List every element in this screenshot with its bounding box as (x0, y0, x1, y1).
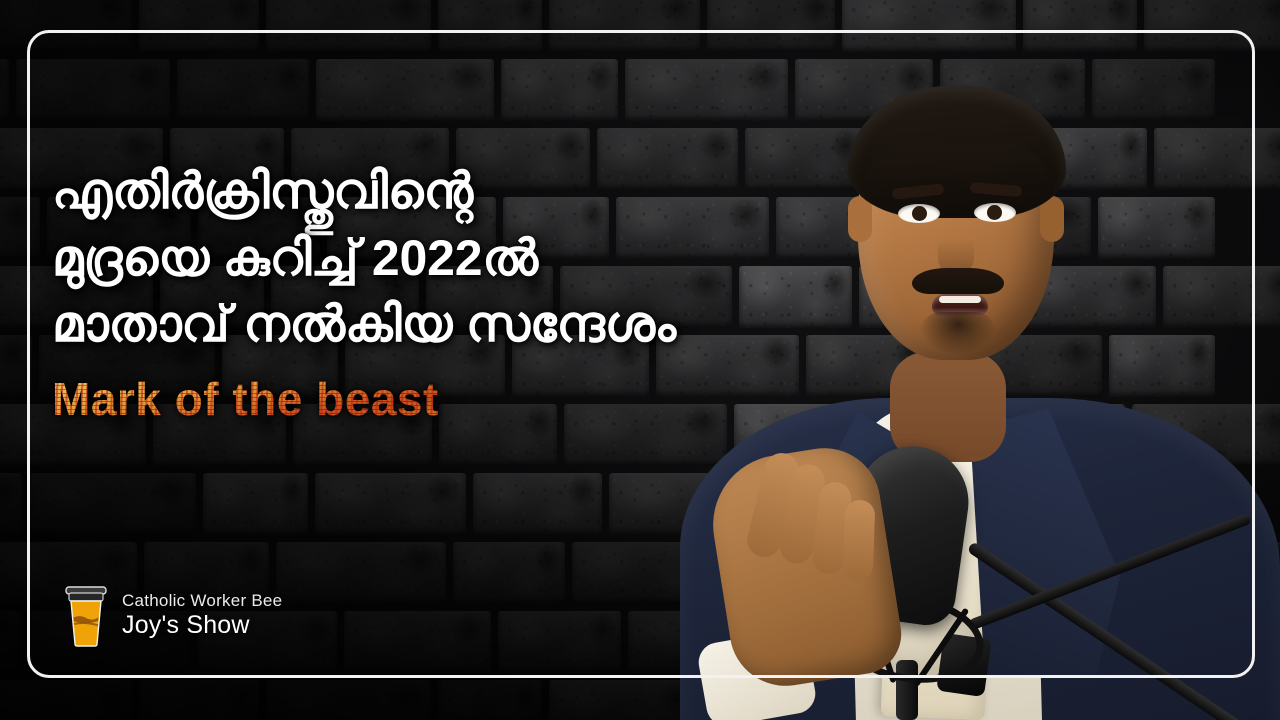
nose (938, 216, 974, 276)
channel-name: Catholic Worker Bee (122, 591, 282, 610)
pupil-left (912, 206, 927, 221)
headline-line-3: മാതാവ് നൽകിയ സന്ദേശം (52, 291, 752, 358)
brand-lockup: Catholic Worker Bee Joy's Show (64, 582, 282, 648)
hair (848, 86, 1066, 218)
pupil-right (987, 205, 1002, 220)
headline-line-2: മുദ്രയെ കുറിച്ച് 2022ൽ (52, 225, 752, 292)
title-block: എതിർക്രിസ്തുവിന്റെ മുദ്രയെ കുറിച്ച് 2022… (52, 158, 752, 426)
brand-text-block: Catholic Worker Bee Joy's Show (122, 591, 282, 638)
video-thumbnail: എതിർക്രിസ്തുവിന്റെ മുദ്രയെ കുറിച്ച് 2022… (0, 0, 1280, 720)
show-name: Joy's Show (122, 611, 282, 639)
coffee-cup-icon (64, 582, 108, 648)
subheadline-mark-of-the-beast: Mark of the beast (52, 372, 752, 426)
ear-left (848, 196, 872, 242)
headline-line-1: എതിർക്രിസ്തുവിന്റെ (52, 158, 752, 225)
chin-beard (920, 312, 996, 354)
mustache (912, 268, 1004, 294)
finger-pinky (843, 500, 876, 581)
